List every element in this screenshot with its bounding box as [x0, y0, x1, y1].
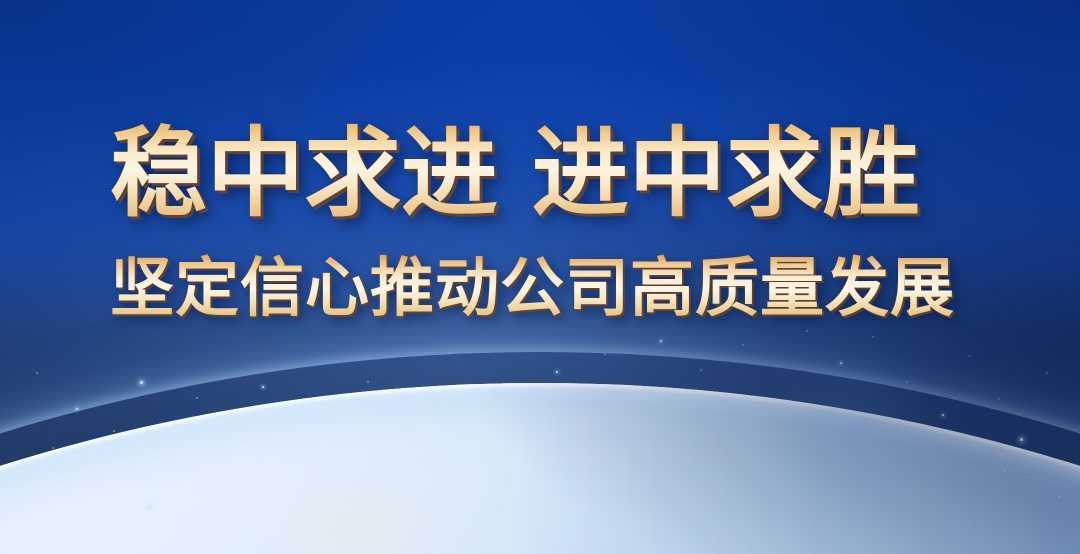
banner-headline: 稳中求进 进中求胜 — [110, 122, 920, 226]
banner-canvas: 稳中求进 进中求胜 坚定信心推动公司高质量发展 — [0, 0, 1080, 554]
banner-subheadline: 坚定信心推动公司高质量发展 — [110, 252, 955, 326]
